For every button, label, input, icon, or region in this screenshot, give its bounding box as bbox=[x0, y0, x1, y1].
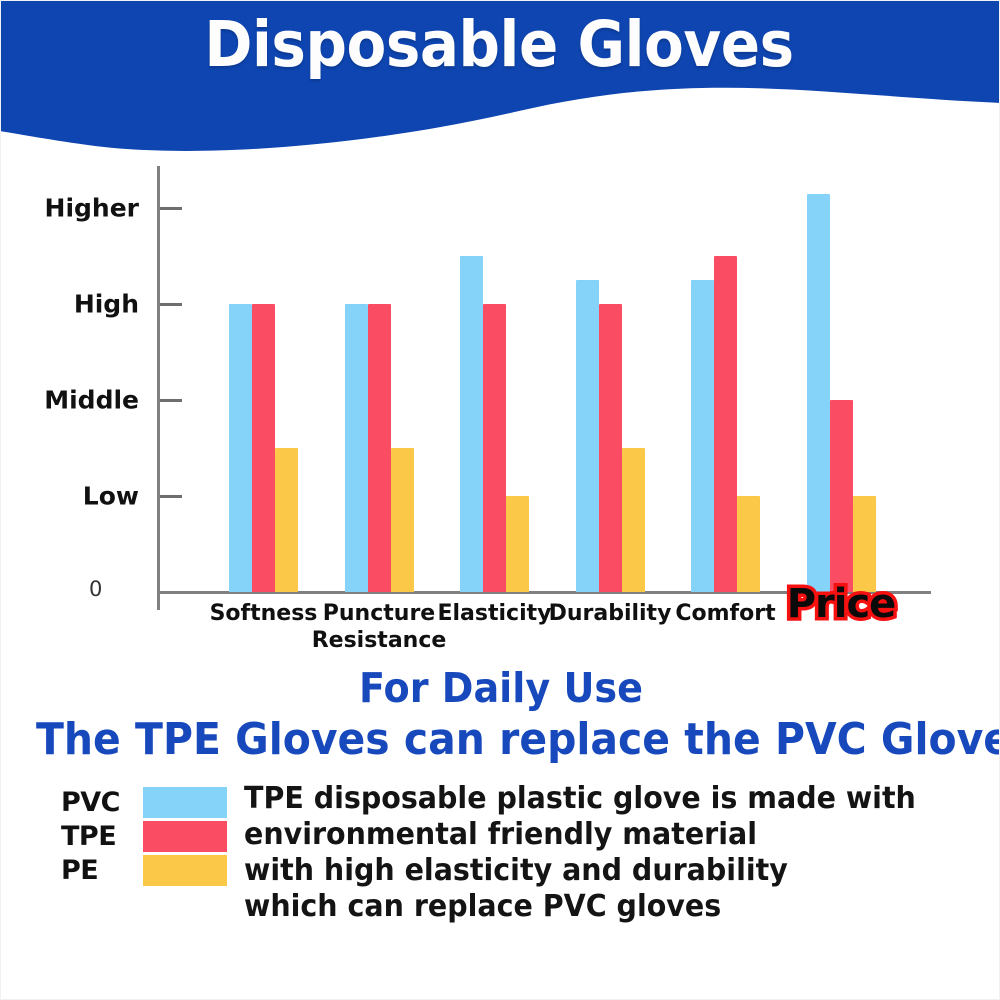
x-label-softness: Softness bbox=[210, 600, 318, 627]
description-line-4: which can replace PVC gloves bbox=[244, 889, 938, 925]
legend-swatch-tpe bbox=[143, 821, 227, 852]
bar-chart: LowMiddleHighHigher 0 SoftnessPuncture R… bbox=[1, 151, 1000, 661]
infographic-page: Disposable Gloves LowMiddleHighHigher 0 … bbox=[0, 0, 1000, 1000]
bar-tpe-puncture-resistance bbox=[368, 304, 391, 592]
bar-tpe-durability bbox=[599, 304, 622, 592]
legend-item-pvc: PVC bbox=[61, 785, 251, 819]
bar-pvc-softness bbox=[229, 304, 252, 592]
x-label-puncture-resistance: Puncture Resistance bbox=[312, 600, 447, 654]
bar-tpe-comfort bbox=[714, 256, 737, 592]
legend-label-pvc: PVC bbox=[61, 787, 143, 818]
bar-pe-elasticity bbox=[506, 496, 529, 592]
bar-tpe-softness bbox=[252, 304, 275, 592]
bar-pe-puncture-resistance bbox=[391, 448, 414, 592]
tagline-replace-pvc: The TPE Gloves can replace the PVC Glove… bbox=[36, 714, 966, 765]
bar-pe-durability bbox=[622, 448, 645, 592]
description-line-2: environmental friendly material bbox=[244, 817, 938, 853]
legend-label-tpe: TPE bbox=[61, 821, 143, 852]
bar-pvc-price bbox=[807, 194, 830, 592]
bar-tpe-price bbox=[830, 400, 853, 592]
bar-pvc-puncture-resistance bbox=[345, 304, 368, 592]
legend-label-pe: PE bbox=[61, 855, 143, 886]
description-line-1: TPE disposable plastic glove is made wit… bbox=[244, 781, 938, 817]
bars-layer bbox=[1, 151, 1000, 592]
x-label-elasticity: Elasticity bbox=[437, 600, 551, 627]
legend-item-pe: PE bbox=[61, 853, 251, 887]
legend-item-tpe: TPE bbox=[61, 819, 251, 853]
tagline-daily-use: For Daily Use bbox=[36, 664, 966, 712]
bar-pe-softness bbox=[275, 448, 298, 592]
description-line-3: with high elasticity and durability bbox=[244, 853, 938, 889]
product-description: TPE disposable plastic glove is made wit… bbox=[244, 781, 938, 925]
header-banner: Disposable Gloves bbox=[0, 0, 1000, 159]
bar-pvc-comfort bbox=[691, 280, 714, 592]
bar-pe-price bbox=[853, 496, 876, 592]
page-title: Disposable Gloves bbox=[39, 8, 959, 81]
bar-pvc-elasticity bbox=[460, 256, 483, 592]
x-label-price: Price bbox=[787, 591, 896, 618]
x-label-comfort: Comfort bbox=[675, 600, 775, 627]
x-label-durability: Durability bbox=[549, 600, 672, 627]
chart-legend: PVCTPEPE bbox=[61, 785, 251, 895]
bar-tpe-elasticity bbox=[483, 304, 506, 592]
legend-swatch-pvc bbox=[143, 787, 227, 818]
bar-pvc-durability bbox=[576, 280, 599, 592]
bar-pe-comfort bbox=[737, 496, 760, 592]
legend-swatch-pe bbox=[143, 855, 227, 886]
